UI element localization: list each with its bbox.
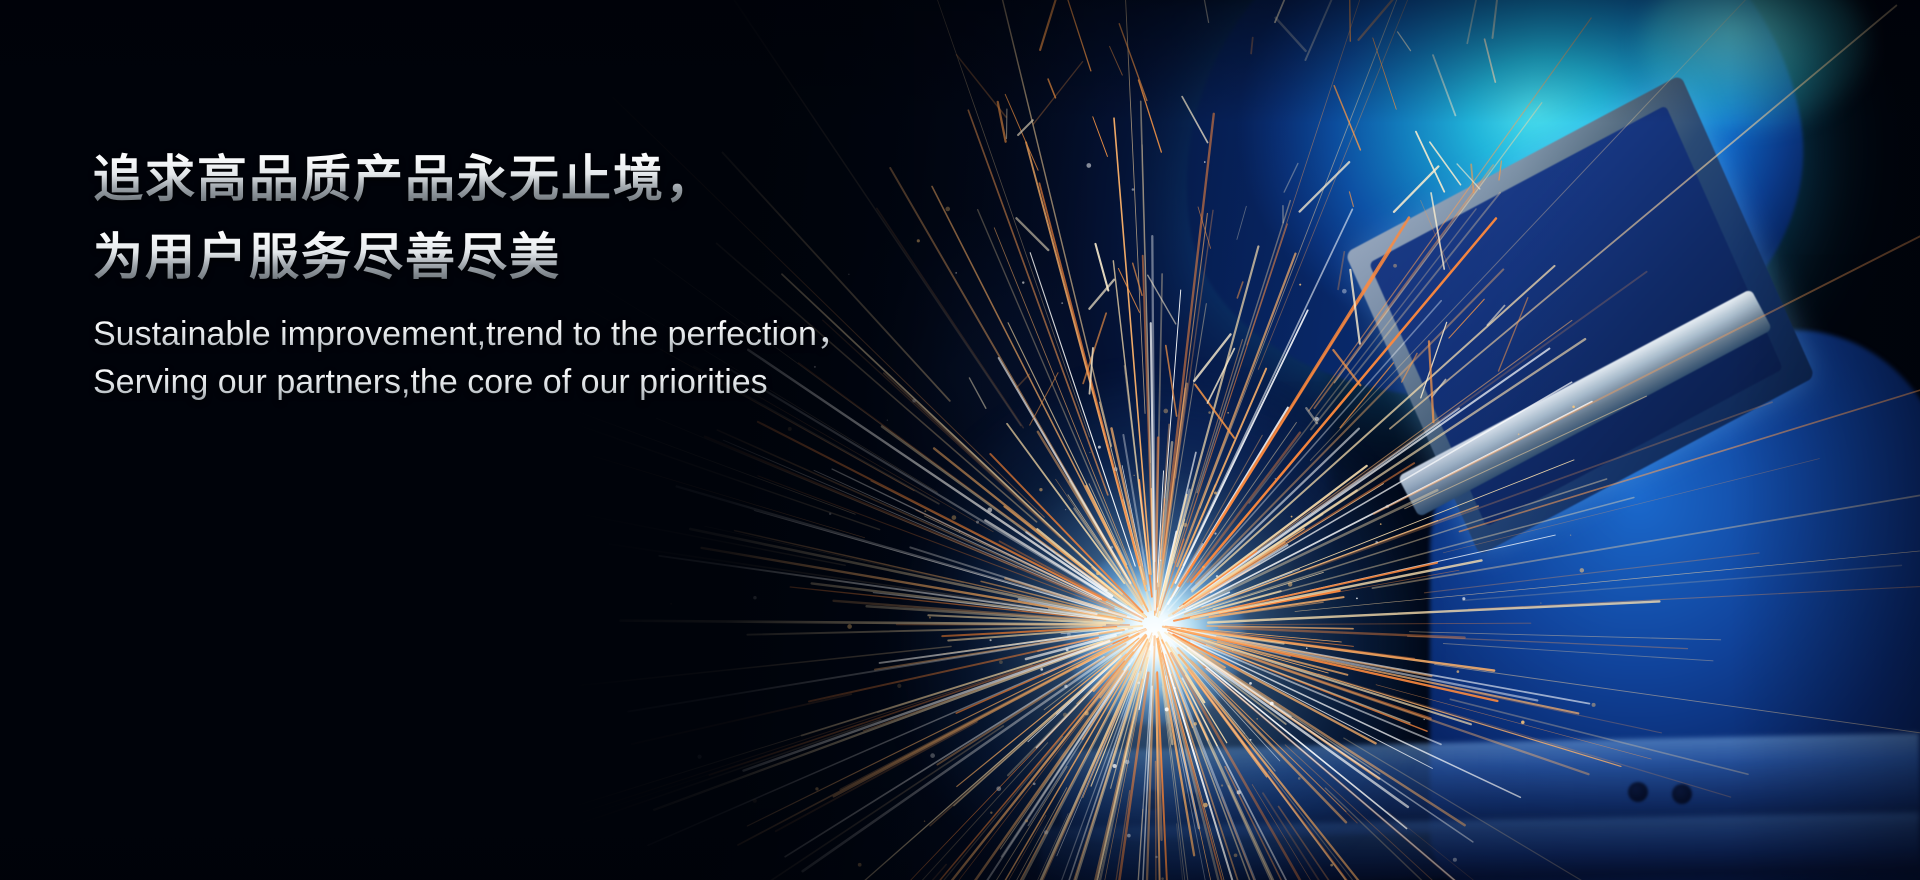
subheadline-line-1: Sustainable improvement,trend to the per… [93,310,1093,358]
hero-banner: 追求高品质产品永无止境， 为用户服务尽善尽美 Sustainable impro… [0,0,1920,880]
headline-line-1: 追求高品质产品永无止境， [93,140,1093,218]
headline-line-2: 为用户服务尽善尽美 [93,218,1093,296]
subheadline: Sustainable improvement,trend to the per… [93,310,1093,406]
subheadline-line-2: Serving our partners,the core of our pri… [93,358,1093,406]
hero-copy: 追求高品质产品永无止境， 为用户服务尽善尽美 Sustainable impro… [93,140,1093,406]
left-dark-overlay [0,0,1100,880]
